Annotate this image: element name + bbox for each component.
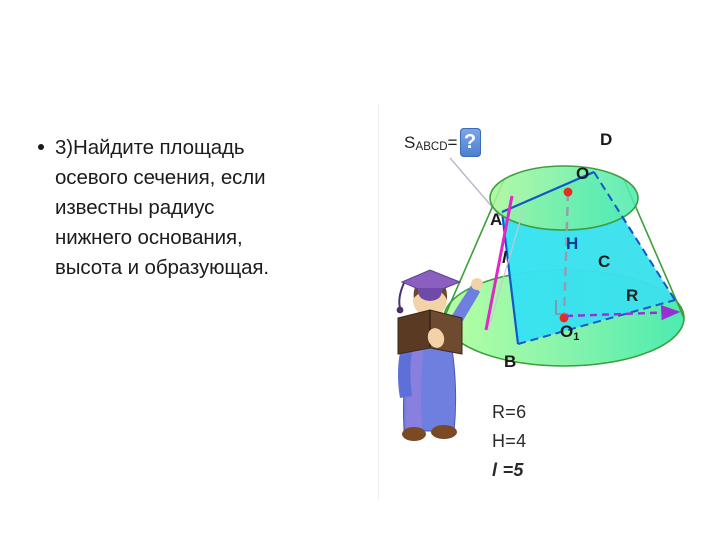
scholar-figure [397,270,483,441]
measurement-height: H=4 [492,427,526,456]
label-point-O1-subscript: 1 [573,331,579,343]
label-point-C: C [598,252,610,272]
measurement-slant: l =5 [492,456,526,485]
measurement-radius: R=6 [492,398,526,427]
truncated-cone-figure [378,0,720,540]
top-center-point [564,188,573,197]
bullet-text: 3)Найдите площадь осевого сечения, если … [55,133,269,283]
label-point-D: D [600,130,612,150]
slide-canvas: 3)Найдите площадь осевого сечения, если … [0,0,720,540]
label-point-B: B [504,352,516,372]
diagram-pane: SABCD= ? [378,0,720,540]
label-point-O: O [576,164,589,184]
label-point-A: A [490,210,502,230]
label-radius-R: R [626,286,638,306]
label-point-O1: O1 [560,322,579,342]
text-pane: 3)Найдите площадь осевого сечения, если … [0,0,378,540]
measurement-list: R=6 H=4 l =5 [492,398,526,485]
label-point-O1-base: O [560,322,573,341]
label-height-H: H [566,234,578,254]
bullet-dot-icon [38,144,44,150]
bullet-list-item: 3)Найдите площадь осевого сечения, если … [38,133,358,283]
label-slant-l: l [502,248,507,268]
